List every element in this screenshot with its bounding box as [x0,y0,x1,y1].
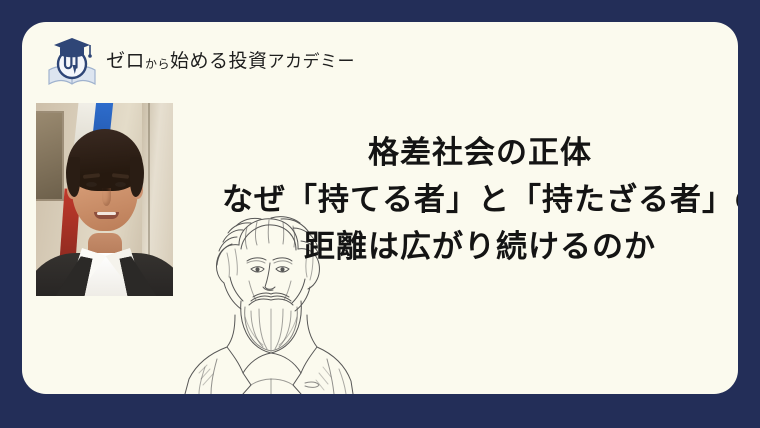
brand-name-part-3: 始める投資 [170,50,268,72]
portrait-eye-left [86,182,97,187]
slide-canvas: ゼロから始める投資アカデミー [0,0,760,428]
brand-name: ゼロから始める投資アカデミー [106,52,355,73]
portrait-eye-right [115,182,126,187]
content-panel: ゼロから始める投資アカデミー [22,22,738,394]
title-line-3: 距離は広がり続けるのか [222,224,738,271]
portrait-nose [102,188,111,206]
title-line-1: 格差社会の正体 [222,130,738,177]
title-line-2: なぜ「持てる者」と「持たざる者」の [222,177,738,224]
brand-name-part-4: アカデミー [268,52,356,72]
brand-name-part-2: から [145,57,170,71]
brand-name-part-1: ゼロ [106,50,145,72]
slide-title: 格差社会の正体 なぜ「持てる者」と「持たざる者」の 距離は広がり続けるのか [222,130,738,271]
portrait-photo [36,103,173,296]
portrait-hair-left [66,157,80,197]
brand-lockup[interactable]: ゼロから始める投資アカデミー [46,34,355,90]
portrait-teeth [97,212,116,215]
academy-logo-icon [46,34,98,90]
photo-wall-artwork [36,113,62,199]
